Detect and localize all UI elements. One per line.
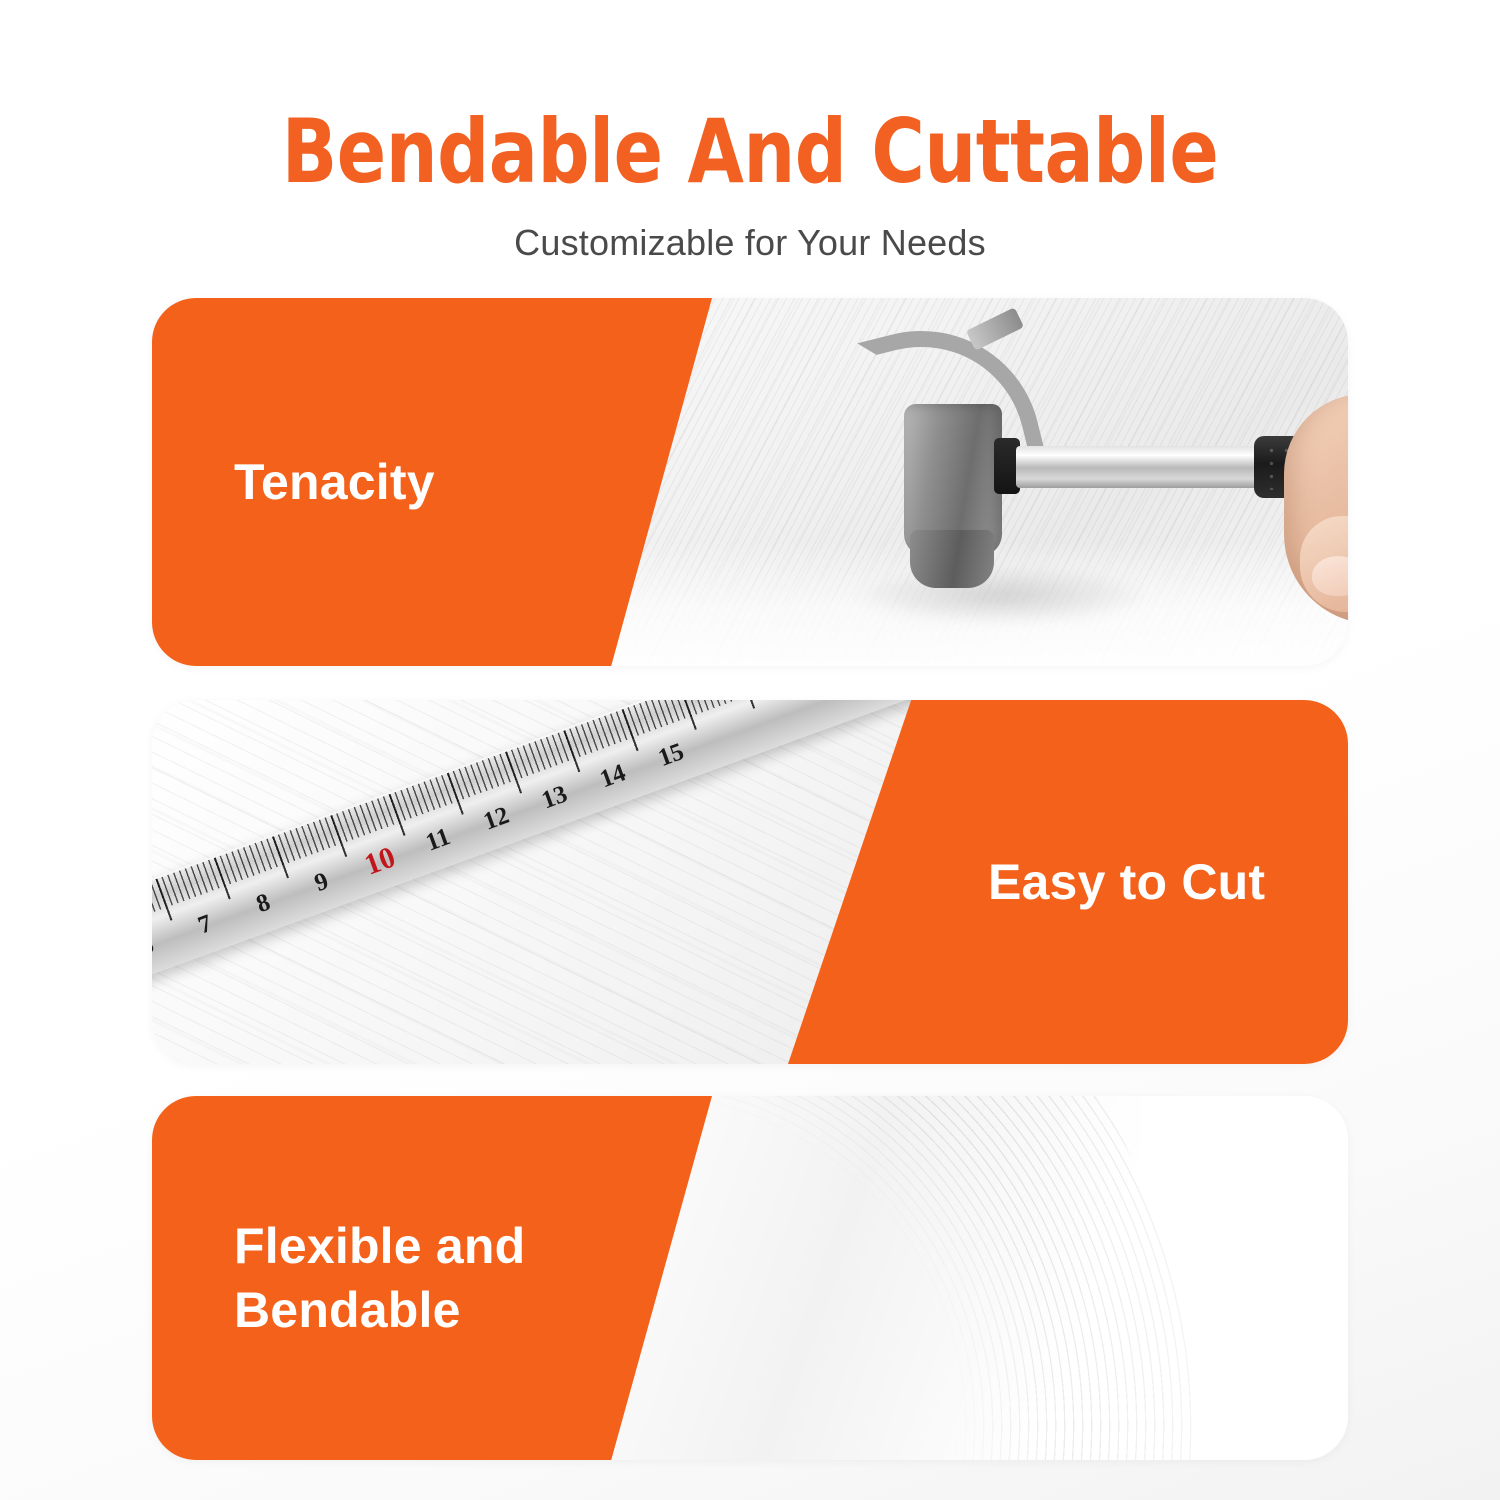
hammer-face xyxy=(910,530,994,588)
claw-hammer-icon xyxy=(822,316,1348,606)
header: Bendable And Cuttable Customizable for Y… xyxy=(0,108,1500,264)
page-title: Bendable And Cuttable xyxy=(60,108,1440,196)
hammer-shaft xyxy=(1016,446,1262,488)
infographic-page: Bendable And Cuttable Customizable for Y… xyxy=(0,0,1500,1500)
feature-card-easy-to-cut[interactable]: 6789101112131415 Easy to Cut xyxy=(152,700,1348,1064)
card-3-label: Flexible and Bendable xyxy=(234,1214,525,1342)
thumbnail xyxy=(1312,556,1348,596)
page-subtitle: Customizable for Your Needs xyxy=(0,222,1500,264)
feature-card-flexible-and-bendable[interactable]: Flexible and Bendable xyxy=(152,1096,1348,1460)
card-2-label: Easy to Cut xyxy=(988,850,1265,914)
card-1-label: Tenacity xyxy=(234,450,435,514)
bend-highlight xyxy=(1028,1096,1348,1460)
feature-card-tenacity[interactable]: Tenacity xyxy=(152,298,1348,666)
